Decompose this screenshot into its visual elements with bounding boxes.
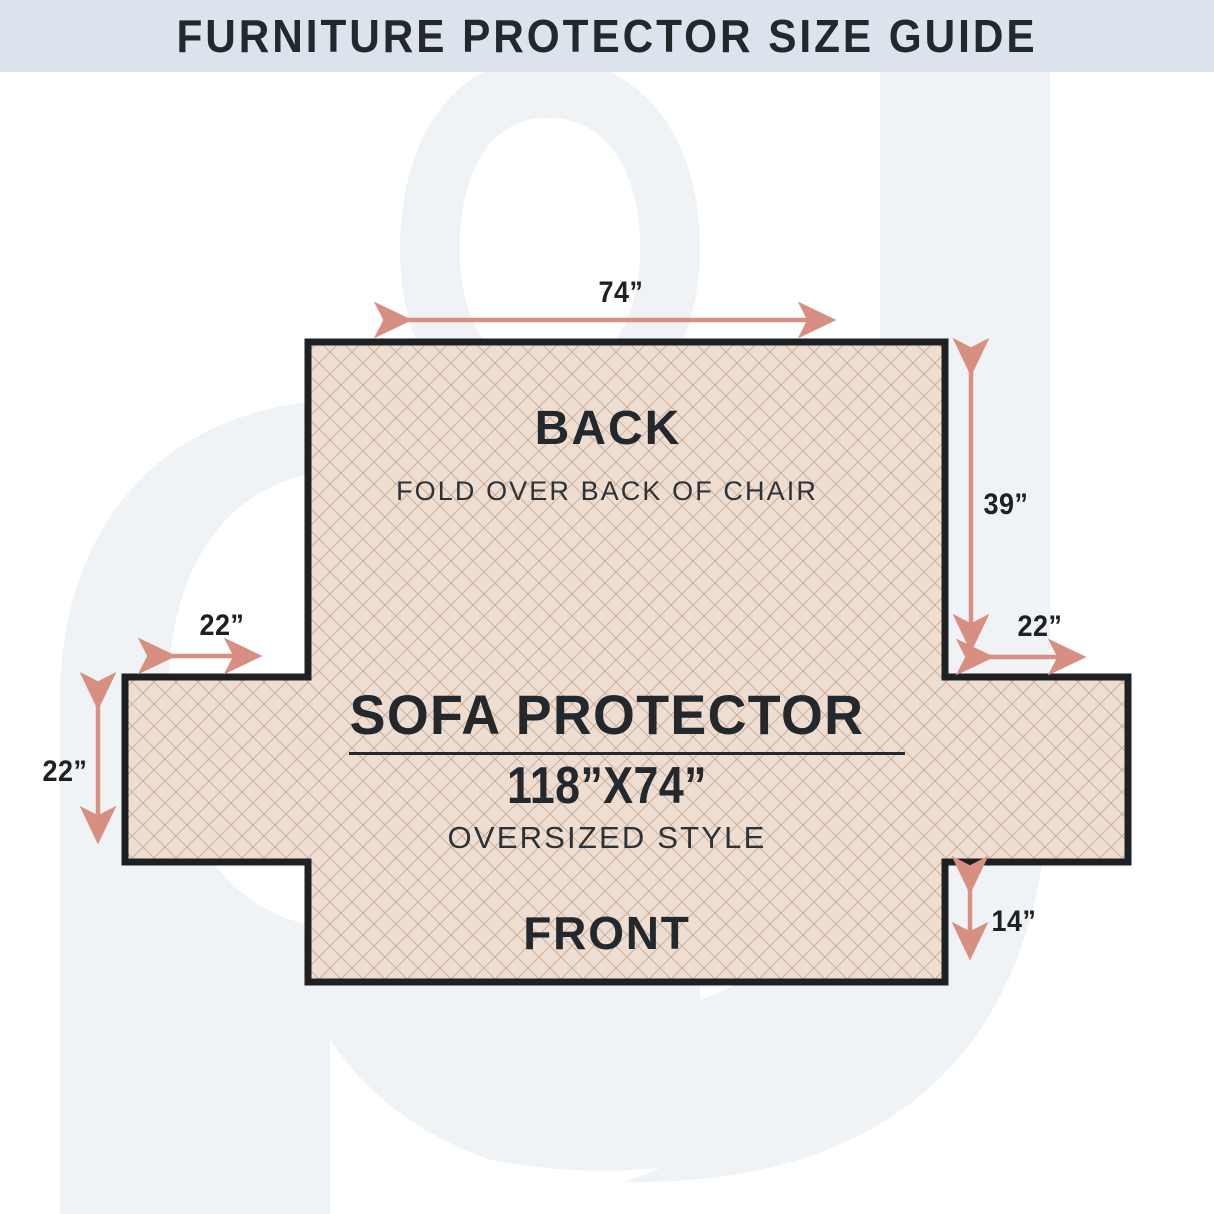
size-guide-graphic: FURNITURE PROTECTOR SIZE GUIDE (0, 0, 1214, 1214)
dimension-label-22-side: 22” (42, 757, 87, 787)
title-divider (349, 752, 905, 755)
dimension-label-14: 14” (991, 907, 1036, 937)
panel-label-back: BACK (1, 405, 1214, 453)
panel-sublabel-fold-over: FOLD OVER BACK OF CHAIR (0, 478, 1214, 505)
dimension-label-22-right: 22” (1017, 612, 1062, 642)
product-size: 118”X74” (85, 760, 1129, 812)
protector-diagram (0, 0, 1214, 1214)
product-name: SOFA PROTECTOR (24, 687, 1189, 743)
product-style: OVERSIZED STYLE (0, 822, 1214, 853)
dimension-label-39: 39” (983, 490, 1028, 520)
dimension-label-74: 74” (598, 278, 643, 308)
dimension-label-22-left: 22” (199, 611, 244, 641)
